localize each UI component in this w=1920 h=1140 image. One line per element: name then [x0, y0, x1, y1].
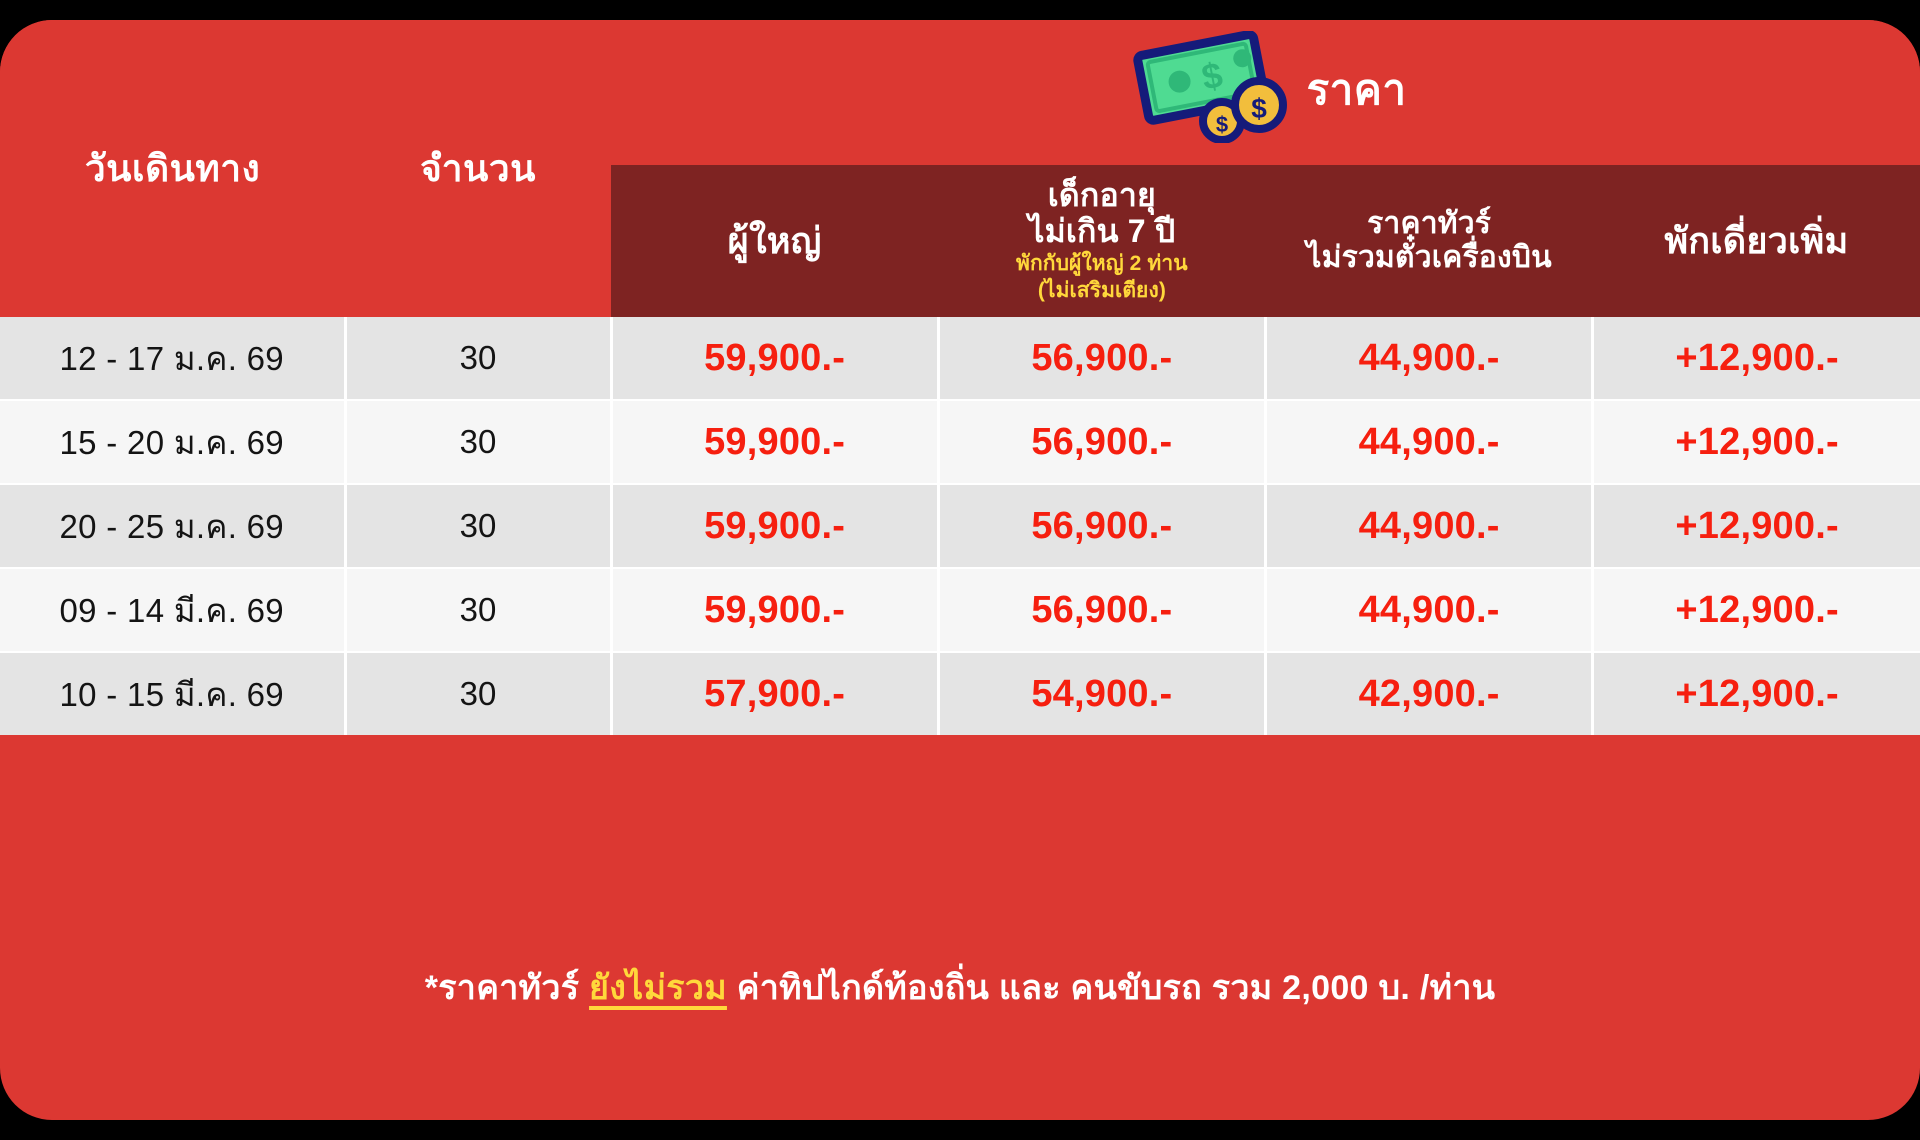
- header-date-label: วันเดินทาง: [85, 148, 260, 189]
- header-sub-tour-no-flight: ราคาทัวร์ ไม่รวมตั๋วเครื่องบิน: [1266, 165, 1593, 317]
- cell-quantity: 30: [345, 652, 611, 735]
- cell-quantity: 30: [345, 317, 611, 400]
- cell-price-single-supplement: +12,900.-: [1593, 568, 1920, 652]
- footer-note: *ราคาทัวร์ ยังไม่รวม ค่าทิปไกด์ท้องถิ่น …: [0, 960, 1920, 1014]
- cell-price-single-supplement: +12,900.-: [1593, 652, 1920, 735]
- cell-date: 10 - 15 มี.ค. 69: [0, 652, 345, 735]
- header-price-group: $ $ $: [611, 20, 1920, 165]
- cell-price-child: 56,900.-: [938, 568, 1265, 652]
- cell-price-tour-no-flight: 42,900.-: [1266, 652, 1593, 735]
- cell-price-child: 56,900.-: [938, 400, 1265, 484]
- header-date: วันเดินทาง: [0, 20, 345, 317]
- price-banner-content: $ $ $: [611, 20, 1920, 165]
- cell-date: 09 - 14 มี.ค. 69: [0, 568, 345, 652]
- header-row-top: วันเดินทาง จำนวน: [0, 20, 1920, 165]
- cell-price-child: 56,900.-: [938, 317, 1265, 400]
- cell-date: 15 - 20 ม.ค. 69: [0, 400, 345, 484]
- tour-price-table: วันเดินทาง จำนวน: [0, 20, 1920, 735]
- cell-date: 20 - 25 ม.ค. 69: [0, 484, 345, 568]
- price-table-card: วันเดินทาง จำนวน: [0, 20, 1920, 1120]
- table-row: 15 - 20 ม.ค. 693059,900.-56,900.-44,900.…: [0, 400, 1920, 484]
- header-quantity-label: จำนวน: [420, 148, 536, 189]
- cell-price-single-supplement: +12,900.-: [1593, 400, 1920, 484]
- header-sub-child-line-1: เด็กอายุ: [938, 178, 1265, 214]
- cell-price-adult: 59,900.-: [611, 317, 938, 400]
- cell-price-adult: 59,900.-: [611, 400, 938, 484]
- cell-price-adult: 57,900.-: [611, 652, 938, 735]
- svg-text:$: $: [1215, 112, 1227, 137]
- table-head: วันเดินทาง จำนวน: [0, 20, 1920, 317]
- cell-price-adult: 59,900.-: [611, 568, 938, 652]
- header-sub-adult-line-1: ผู้ใหญ่: [611, 221, 938, 261]
- footer-note-part2: ค่าทิปไกด์ท้องถิ่น และ คนขับรถ รวม 2,000…: [727, 969, 1495, 1007]
- table-body: 12 - 17 ม.ค. 693059,900.-56,900.-44,900.…: [0, 317, 1920, 735]
- table-row: 20 - 25 ม.ค. 693059,900.-56,900.-44,900.…: [0, 484, 1920, 568]
- cell-price-tour-no-flight: 44,900.-: [1266, 568, 1593, 652]
- cell-price-child: 56,900.-: [938, 484, 1265, 568]
- header-sub-tour-no-flight-line-1: ราคาทัวร์: [1266, 207, 1593, 241]
- money-icon: $ $ $: [1125, 31, 1293, 143]
- cell-price-tour-no-flight: 44,900.-: [1266, 400, 1593, 484]
- cell-quantity: 30: [345, 484, 611, 568]
- cell-price-adult: 59,900.-: [611, 484, 938, 568]
- header-sub-single-supplement-line-1: พักเดี่ยวเพิ่ม: [1593, 221, 1920, 261]
- cell-quantity: 30: [345, 400, 611, 484]
- header-sub-adult: ผู้ใหญ่: [611, 165, 938, 317]
- header-price-group-label: ราคา: [1307, 57, 1407, 123]
- footer-note-part1: *ราคาทัวร์: [425, 969, 589, 1007]
- header-sub-child: เด็กอายุ ไม่เกิน 7 ปี พักกับผู้ใหญ่ 2 ท่…: [938, 165, 1265, 317]
- header-sub-child-note-2: (ไม่เสริมเตียง): [938, 279, 1265, 304]
- cell-price-child: 54,900.-: [938, 652, 1265, 735]
- cell-price-tour-no-flight: 44,900.-: [1266, 317, 1593, 400]
- cell-price-single-supplement: +12,900.-: [1593, 484, 1920, 568]
- cell-price-single-supplement: +12,900.-: [1593, 317, 1920, 400]
- header-sub-child-line-2: ไม่เกิน 7 ปี: [938, 214, 1265, 250]
- cell-quantity: 30: [345, 568, 611, 652]
- header-sub-tour-no-flight-line-2: ไม่รวมตั๋วเครื่องบิน: [1266, 241, 1593, 275]
- table-row: 10 - 15 มี.ค. 693057,900.-54,900.-42,900…: [0, 652, 1920, 735]
- cell-price-tour-no-flight: 44,900.-: [1266, 484, 1593, 568]
- header-sub-single-supplement: พักเดี่ยวเพิ่ม: [1593, 165, 1920, 317]
- cell-date: 12 - 17 ม.ค. 69: [0, 317, 345, 400]
- table-row: 09 - 14 มี.ค. 693059,900.-56,900.-44,900…: [0, 568, 1920, 652]
- header-sub-child-note-1: พักกับผู้ใหญ่ 2 ท่าน: [938, 252, 1265, 277]
- footer-note-highlight: ยังไม่รวม: [589, 969, 727, 1007]
- header-quantity: จำนวน: [345, 20, 611, 317]
- svg-text:$: $: [1251, 93, 1267, 124]
- table-row: 12 - 17 ม.ค. 693059,900.-56,900.-44,900.…: [0, 317, 1920, 400]
